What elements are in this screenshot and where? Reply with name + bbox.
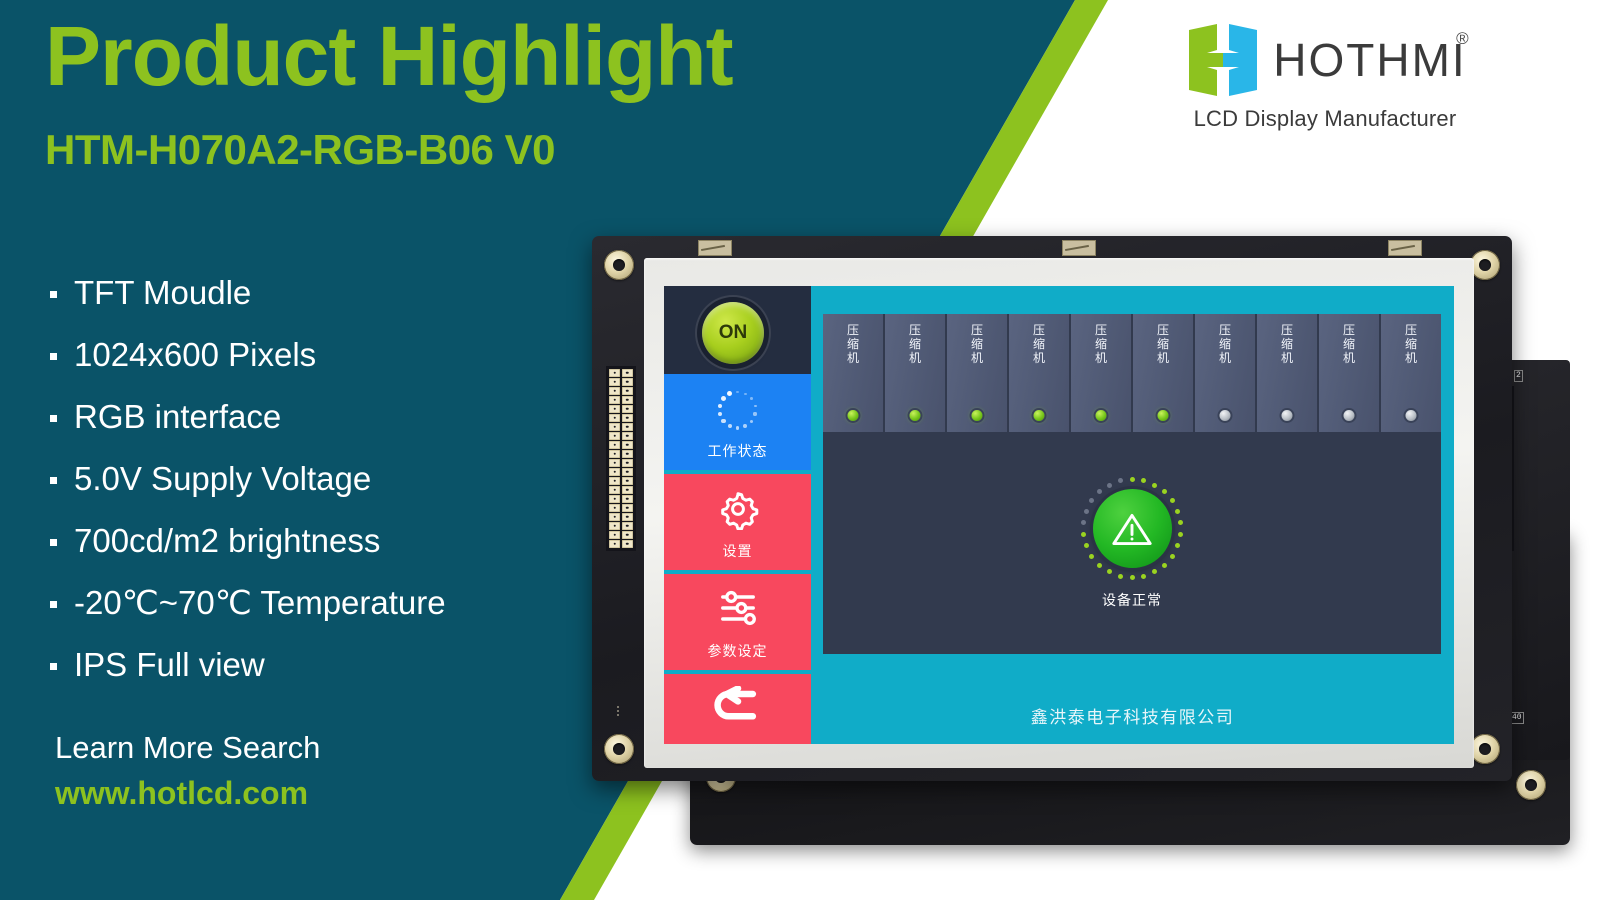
status-ring-indicator [1080,476,1185,581]
connector-pin [622,414,633,422]
connector-pin [609,477,620,485]
list-item: IPS Full view [48,634,648,696]
pcb-pad [1062,240,1096,256]
sidebar-item-label: 工作状态 [664,441,811,461]
connector-pin [609,414,620,422]
mounting-screw [1470,734,1500,764]
list-item: 700cd/m2 brightness [48,510,648,572]
connector-pin [609,396,620,404]
mounting-screw [604,734,634,764]
learn-more-text: Learn More Search [55,730,320,766]
connector-pin [609,432,620,440]
compressor-panel-3[interactable]: 压缩机 [947,314,1009,432]
mounting-screw [604,250,634,280]
sidebar-item-back[interactable] [664,674,811,744]
connector-pin [622,513,633,521]
compressor-panel-7[interactable]: 压缩机 [1195,314,1257,432]
compressor-label: 压缩机 [1219,323,1231,365]
compressor-panel-group: 压缩机压缩机压缩机压缩机压缩机压缩机压缩机压缩机压缩机压缩机 [823,314,1441,654]
connector-pin [609,522,620,530]
pin-label-40: 40 [1510,712,1524,724]
sidebar-item-label: 设置 [664,541,811,561]
compressor-led-8 [1282,410,1293,421]
website-link[interactable]: www.hotlcd.com [55,775,308,812]
connector-pin [609,495,620,503]
connector-pin [609,531,620,539]
connector-pin [622,540,633,548]
compressor-label: 压缩机 [847,323,859,365]
logo-tagline: LCD Display Manufacturer [1165,106,1485,132]
lcd-main-view: 压缩机压缩机压缩机压缩机压缩机压缩机压缩机压缩机压缩机压缩机 [811,286,1454,744]
compressor-label: 压缩机 [1343,323,1355,365]
power-on-label: ON [719,322,748,344]
compressor-led-6 [1158,410,1169,421]
pcb-front-board: 1700003A-V302 230619 ON [592,236,1512,781]
connector-pin [609,468,620,476]
connector-pin [622,486,633,494]
connector-pin [609,504,620,512]
pcb-pad [1388,240,1422,256]
lcd-bezel: ON 工作状态 [644,258,1474,768]
connector-pin [622,459,633,467]
compressor-label: 压缩机 [909,323,921,365]
compressor-panel-9[interactable]: 压缩机 [1319,314,1381,432]
lcd-company-name: 鑫洪泰电子科技有限公司 [811,703,1454,728]
connector-pin [622,432,633,440]
compressor-led-3 [972,410,983,421]
logo-wordmark: HOTHMI ® [1273,33,1466,87]
compressor-led-1 [848,410,859,421]
compressor-panel-4[interactable]: 压缩机 [1009,314,1071,432]
sidebar-item-parameters[interactable]: 参数设定 [664,574,811,670]
connector-pin [609,540,620,548]
connector-pin [609,513,620,521]
registered-trademark-icon: ® [1456,29,1471,49]
device-status-area: 设备正常 [823,432,1441,654]
connector-pin [622,450,633,458]
compressor-led-10 [1406,410,1417,421]
compressor-label: 压缩机 [1281,323,1293,365]
connector-pin [609,378,620,386]
product-photo: U1 ED2 U2 HOTHMI HTM-H070A2-RGB-B06 V0 7… [580,230,1590,860]
compressor-row: 压缩机压缩机压缩机压缩机压缩机压缩机压缩机压缩机压缩机压缩机 [823,314,1441,432]
connector-pin [622,405,633,413]
status-badge[interactable] [1093,489,1172,568]
compressor-label: 压缩机 [1405,323,1417,365]
list-item: RGB interface [48,386,648,448]
compressor-label: 压缩机 [971,323,983,365]
compressor-led-9 [1344,410,1355,421]
compressor-led-2 [910,410,921,421]
compressor-panel-8[interactable]: 压缩机 [1257,314,1319,432]
list-item: TFT Moudle [48,262,648,324]
list-item: -20℃~70℃ Temperature [48,572,648,634]
connector-pin [622,495,633,503]
sliders-icon [664,588,811,628]
connector-pin [609,369,620,377]
connector-pin [609,441,620,449]
hothmi-logo-icon [1183,20,1263,100]
sidebar-item-label: 参数设定 [664,641,811,661]
compressor-label: 压缩机 [1095,323,1107,365]
spinner-icon [664,388,811,432]
connector-pin [622,441,633,449]
status-label: 设备正常 [1102,590,1162,610]
list-item: 1024x600 Pixels [48,324,648,386]
connector-pin [622,369,633,377]
lcd-sidebar: ON 工作状态 [664,286,811,744]
connector-pin [622,468,633,476]
pin-label-2: 2 [1514,370,1523,382]
feature-list: TFT Moudle 1024x600 Pixels RGB interface… [48,262,648,696]
connector-pin [622,423,633,431]
connector-pin [622,522,633,530]
connector-pin [622,396,633,404]
brand-logo: HOTHMI ® LCD Display Manufacturer [1165,18,1485,132]
connector-40-pin-left [606,366,636,551]
compressor-led-4 [1034,410,1045,421]
connector-pin [609,486,620,494]
connector-pin [609,387,620,395]
sidebar-item-settings[interactable]: 设置 [664,474,811,570]
sidebar-item-power[interactable]: ON [664,286,811,374]
compressor-led-5 [1096,410,1107,421]
back-arrow-icon [664,686,811,728]
connector-pin [622,378,633,386]
pcb-pad [698,240,732,256]
compressor-panel-5[interactable]: 压缩机 [1071,314,1133,432]
list-item: 5.0V Supply Voltage [48,448,648,510]
connector-pin [609,423,620,431]
connector-pin [622,531,633,539]
compressor-panel-10[interactable]: 压缩机 [1381,314,1441,432]
gear-icon [664,488,811,530]
lcd-screen: ON 工作状态 [664,286,1454,744]
product-model-subtitle: HTM-H070A2-RGB-B06 V0 [45,126,555,174]
connector-pin [609,450,620,458]
warning-triangle-icon [1110,509,1154,549]
connector-pin [622,387,633,395]
page-title: Product Highlight [45,12,733,101]
compressor-led-7 [1220,410,1231,421]
pcb-via-dots [617,706,619,716]
mounting-screw [1470,250,1500,280]
connector-pin [622,477,633,485]
power-on-button[interactable]: ON [702,302,764,364]
compressor-label: 压缩机 [1033,323,1045,365]
connector-pin [609,459,620,467]
compressor-panel-1[interactable]: 压缩机 [823,314,885,432]
compressor-panel-6[interactable]: 压缩机 [1133,314,1195,432]
logo-wordmark-text: HOTHMI [1273,34,1466,86]
compressor-label: 压缩机 [1157,323,1169,365]
mounting-screw [1516,770,1546,800]
compressor-panel-2[interactable]: 压缩机 [885,314,947,432]
connector-pin [622,504,633,512]
sidebar-item-work-status[interactable]: 工作状态 [664,374,811,470]
connector-pin [609,405,620,413]
